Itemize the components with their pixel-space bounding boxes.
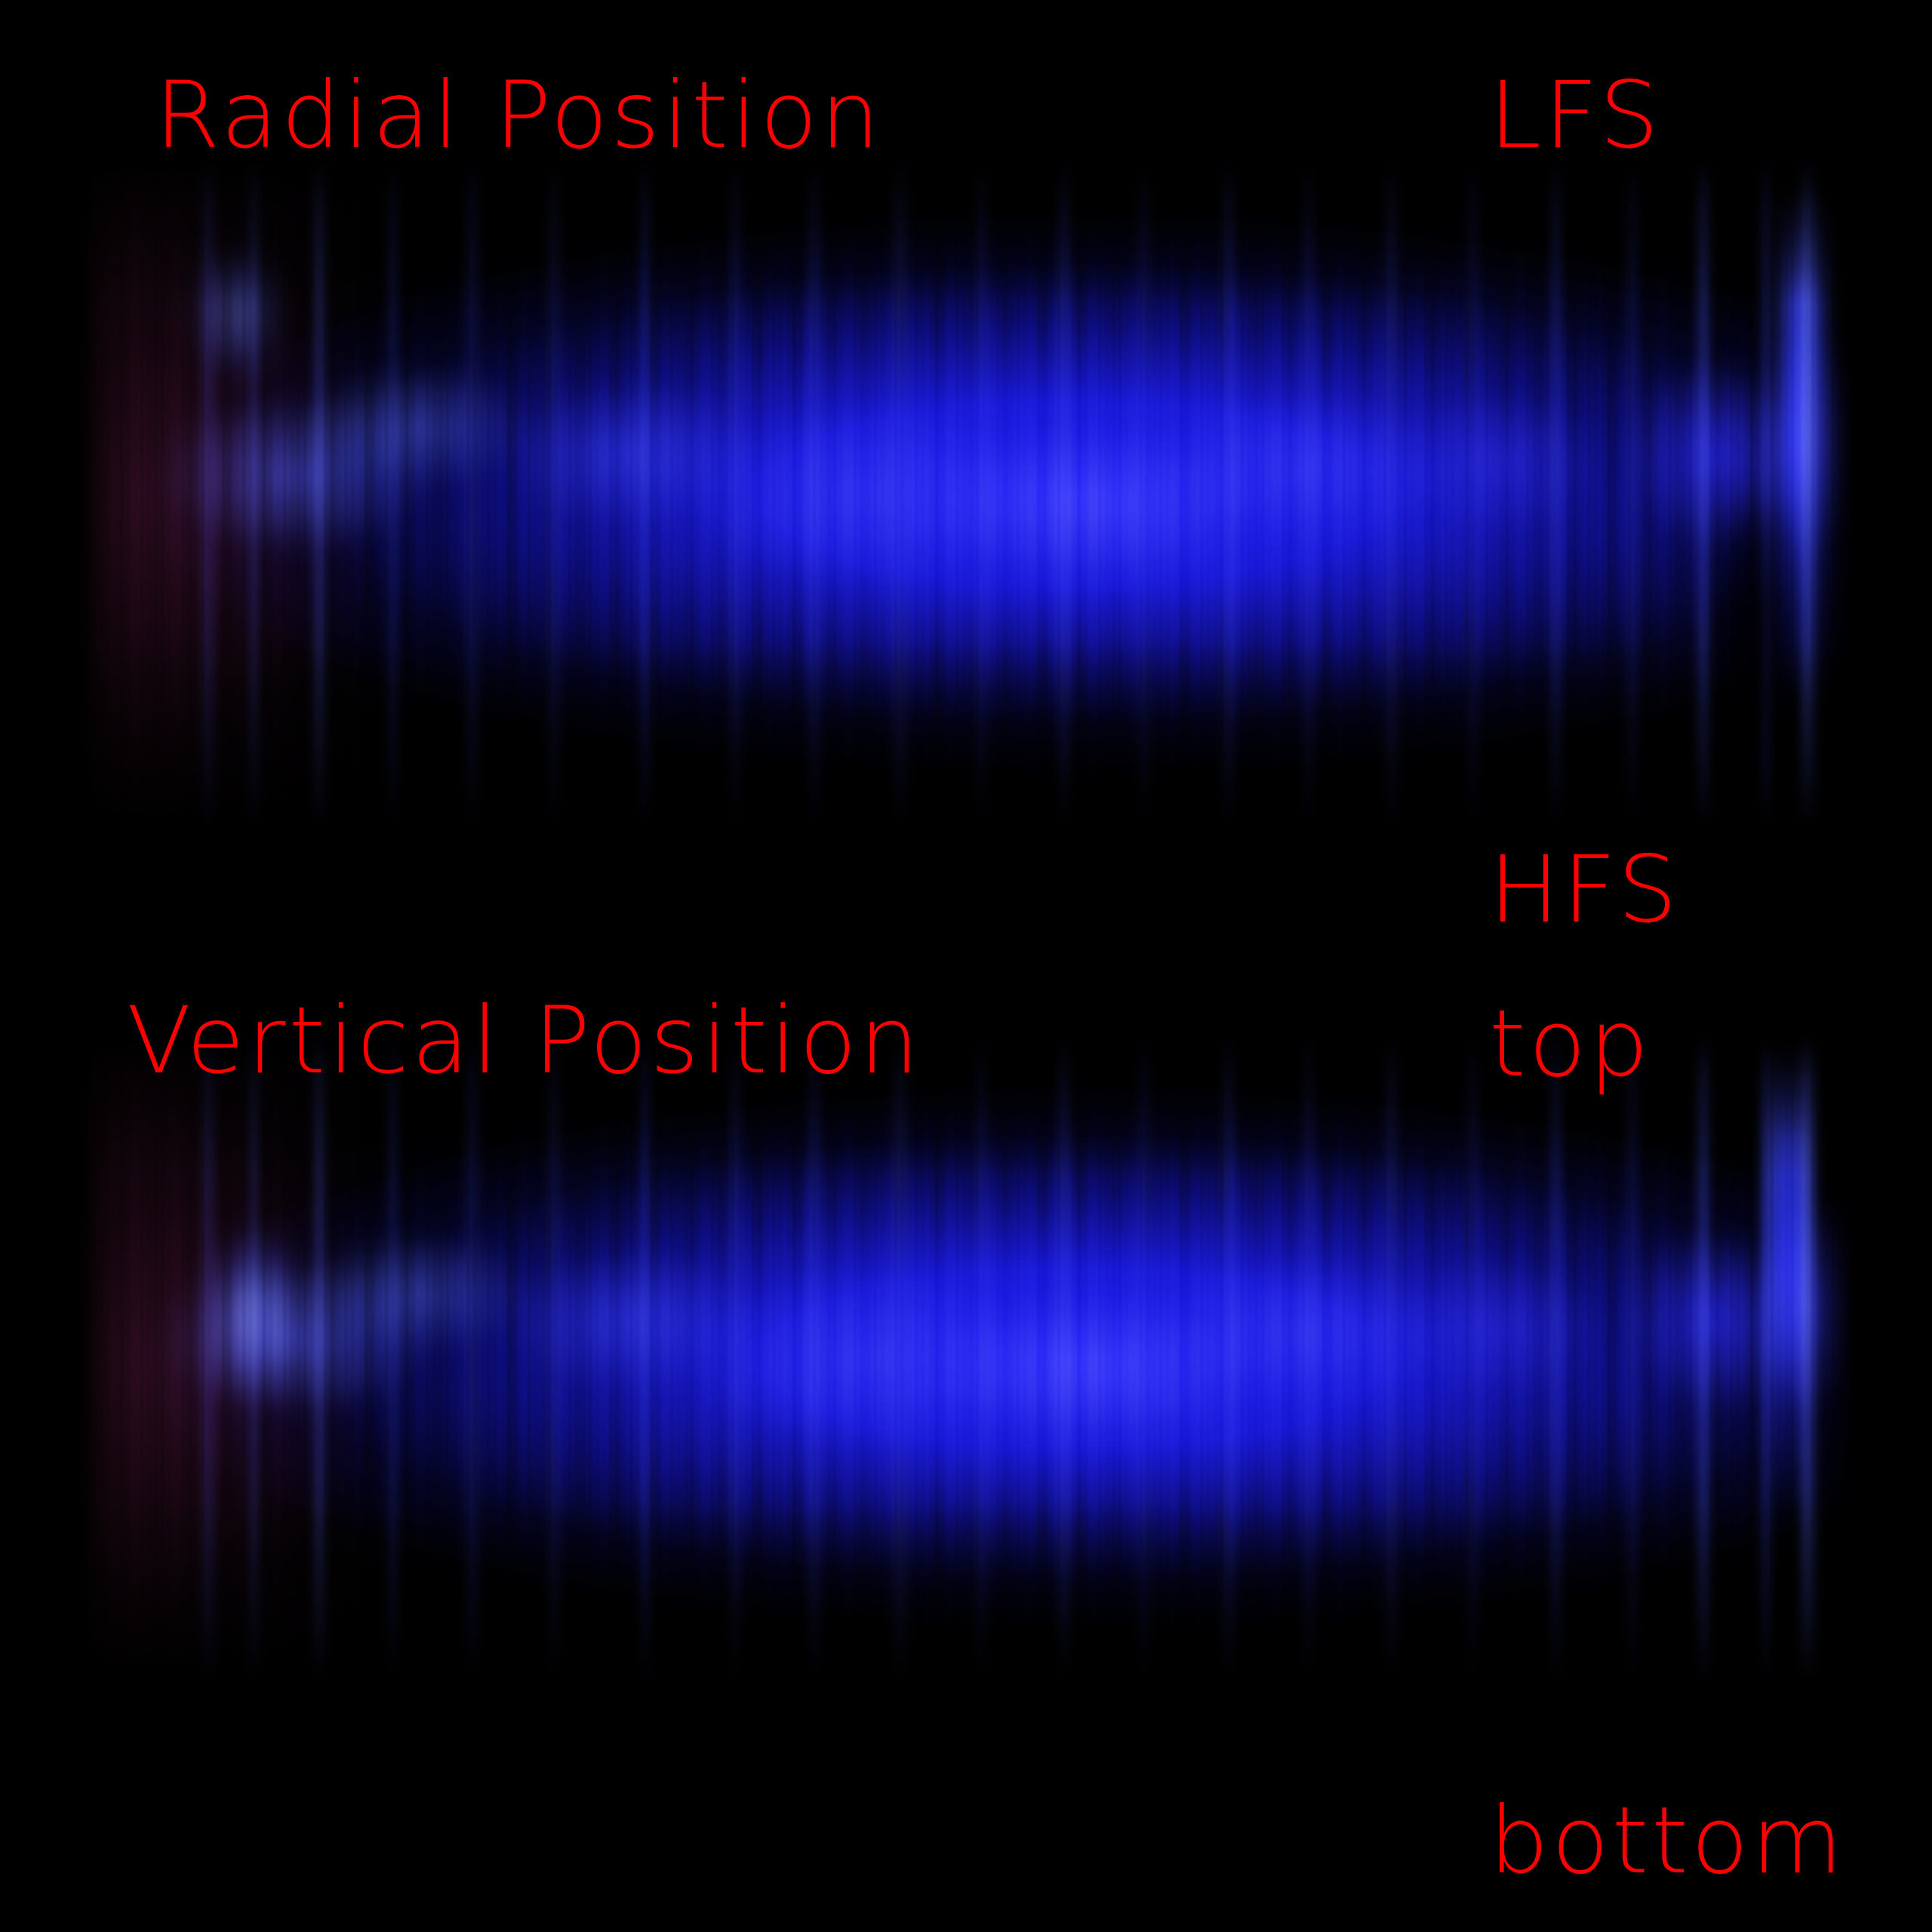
emission-layer xyxy=(75,158,1857,830)
lfs-label: LFS xyxy=(1489,69,1662,162)
panel-vignette xyxy=(75,158,1857,830)
bottom-label: bottom xyxy=(1489,1795,1845,1887)
hfs-reconstruction-panel xyxy=(75,1034,1857,1683)
panel-vignette xyxy=(75,1034,1857,1683)
radial-position-label: Radial Position xyxy=(155,69,882,162)
lfs-reconstruction-panel xyxy=(75,158,1857,830)
hfs-label: HFS xyxy=(1489,844,1680,936)
top-label: top xyxy=(1489,998,1651,1090)
emission-layer xyxy=(75,1034,1857,1683)
vertical-position-label: Vertical Position xyxy=(127,995,921,1087)
tomography-figure: Radial Position LFS HFS Vertical Positio… xyxy=(0,0,1932,1932)
